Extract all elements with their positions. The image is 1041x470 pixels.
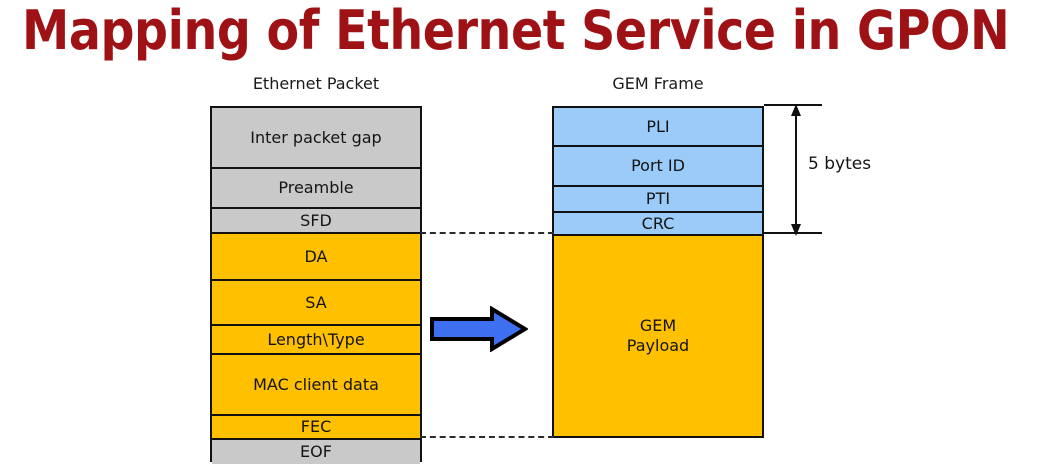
field-label: PTI (646, 189, 670, 209)
field-port-id: Port ID (554, 147, 762, 187)
field-label: Length\Type (267, 330, 364, 350)
field-gem-payload: GEM Payload (554, 236, 762, 436)
header-size-dimension: 5 bytes (764, 104, 914, 238)
field-eof: EOF (212, 440, 420, 464)
field-label: EOF (300, 442, 332, 462)
field-inter-packet-gap: Inter packet gap (212, 108, 420, 169)
double-headed-arrow-icon (786, 102, 806, 238)
field-da: DA (212, 234, 420, 281)
ethernet-packet-label: Ethernet Packet (210, 74, 422, 93)
page-title: Mapping of Ethernet Service in GPON (22, 0, 920, 64)
field-mac-client-data: MAC client data (212, 355, 420, 416)
field-sfd: SFD (212, 209, 420, 234)
field-label: SFD (300, 211, 332, 231)
field-label: MAC client data (253, 375, 379, 395)
field-label: FEC (301, 417, 331, 437)
field-length-type: Length\Type (212, 326, 420, 355)
dashed-connector-top (420, 232, 554, 234)
field-label-line1: GEM (640, 316, 676, 336)
gem-frame-stack: PLI Port ID PTI CRC GEM Payload (552, 106, 764, 438)
field-sa: SA (212, 281, 420, 326)
field-label: Port ID (631, 156, 685, 176)
field-crc: CRC (554, 213, 762, 236)
dashed-connector-bottom (420, 436, 554, 438)
header-size-label: 5 bytes (808, 154, 871, 174)
field-label: Preamble (278, 178, 353, 198)
field-label: Inter packet gap (250, 128, 381, 148)
field-label: DA (305, 247, 328, 267)
field-fec: FEC (212, 416, 420, 440)
field-label-line2: Payload (627, 336, 689, 356)
field-label: PLI (646, 117, 669, 137)
ethernet-packet-stack: Inter packet gap Preamble SFD DA SA Leng… (210, 106, 422, 462)
field-pli: PLI (554, 108, 762, 147)
field-preamble: Preamble (212, 169, 420, 209)
slide-canvas: Mapping of Ethernet Service in GPON Ethe… (0, 0, 1041, 470)
mapping-arrow-icon (430, 306, 528, 352)
field-label: CRC (642, 214, 675, 234)
gem-frame-label: GEM Frame (552, 74, 764, 93)
field-label: SA (305, 293, 326, 313)
field-pti: PTI (554, 187, 762, 213)
